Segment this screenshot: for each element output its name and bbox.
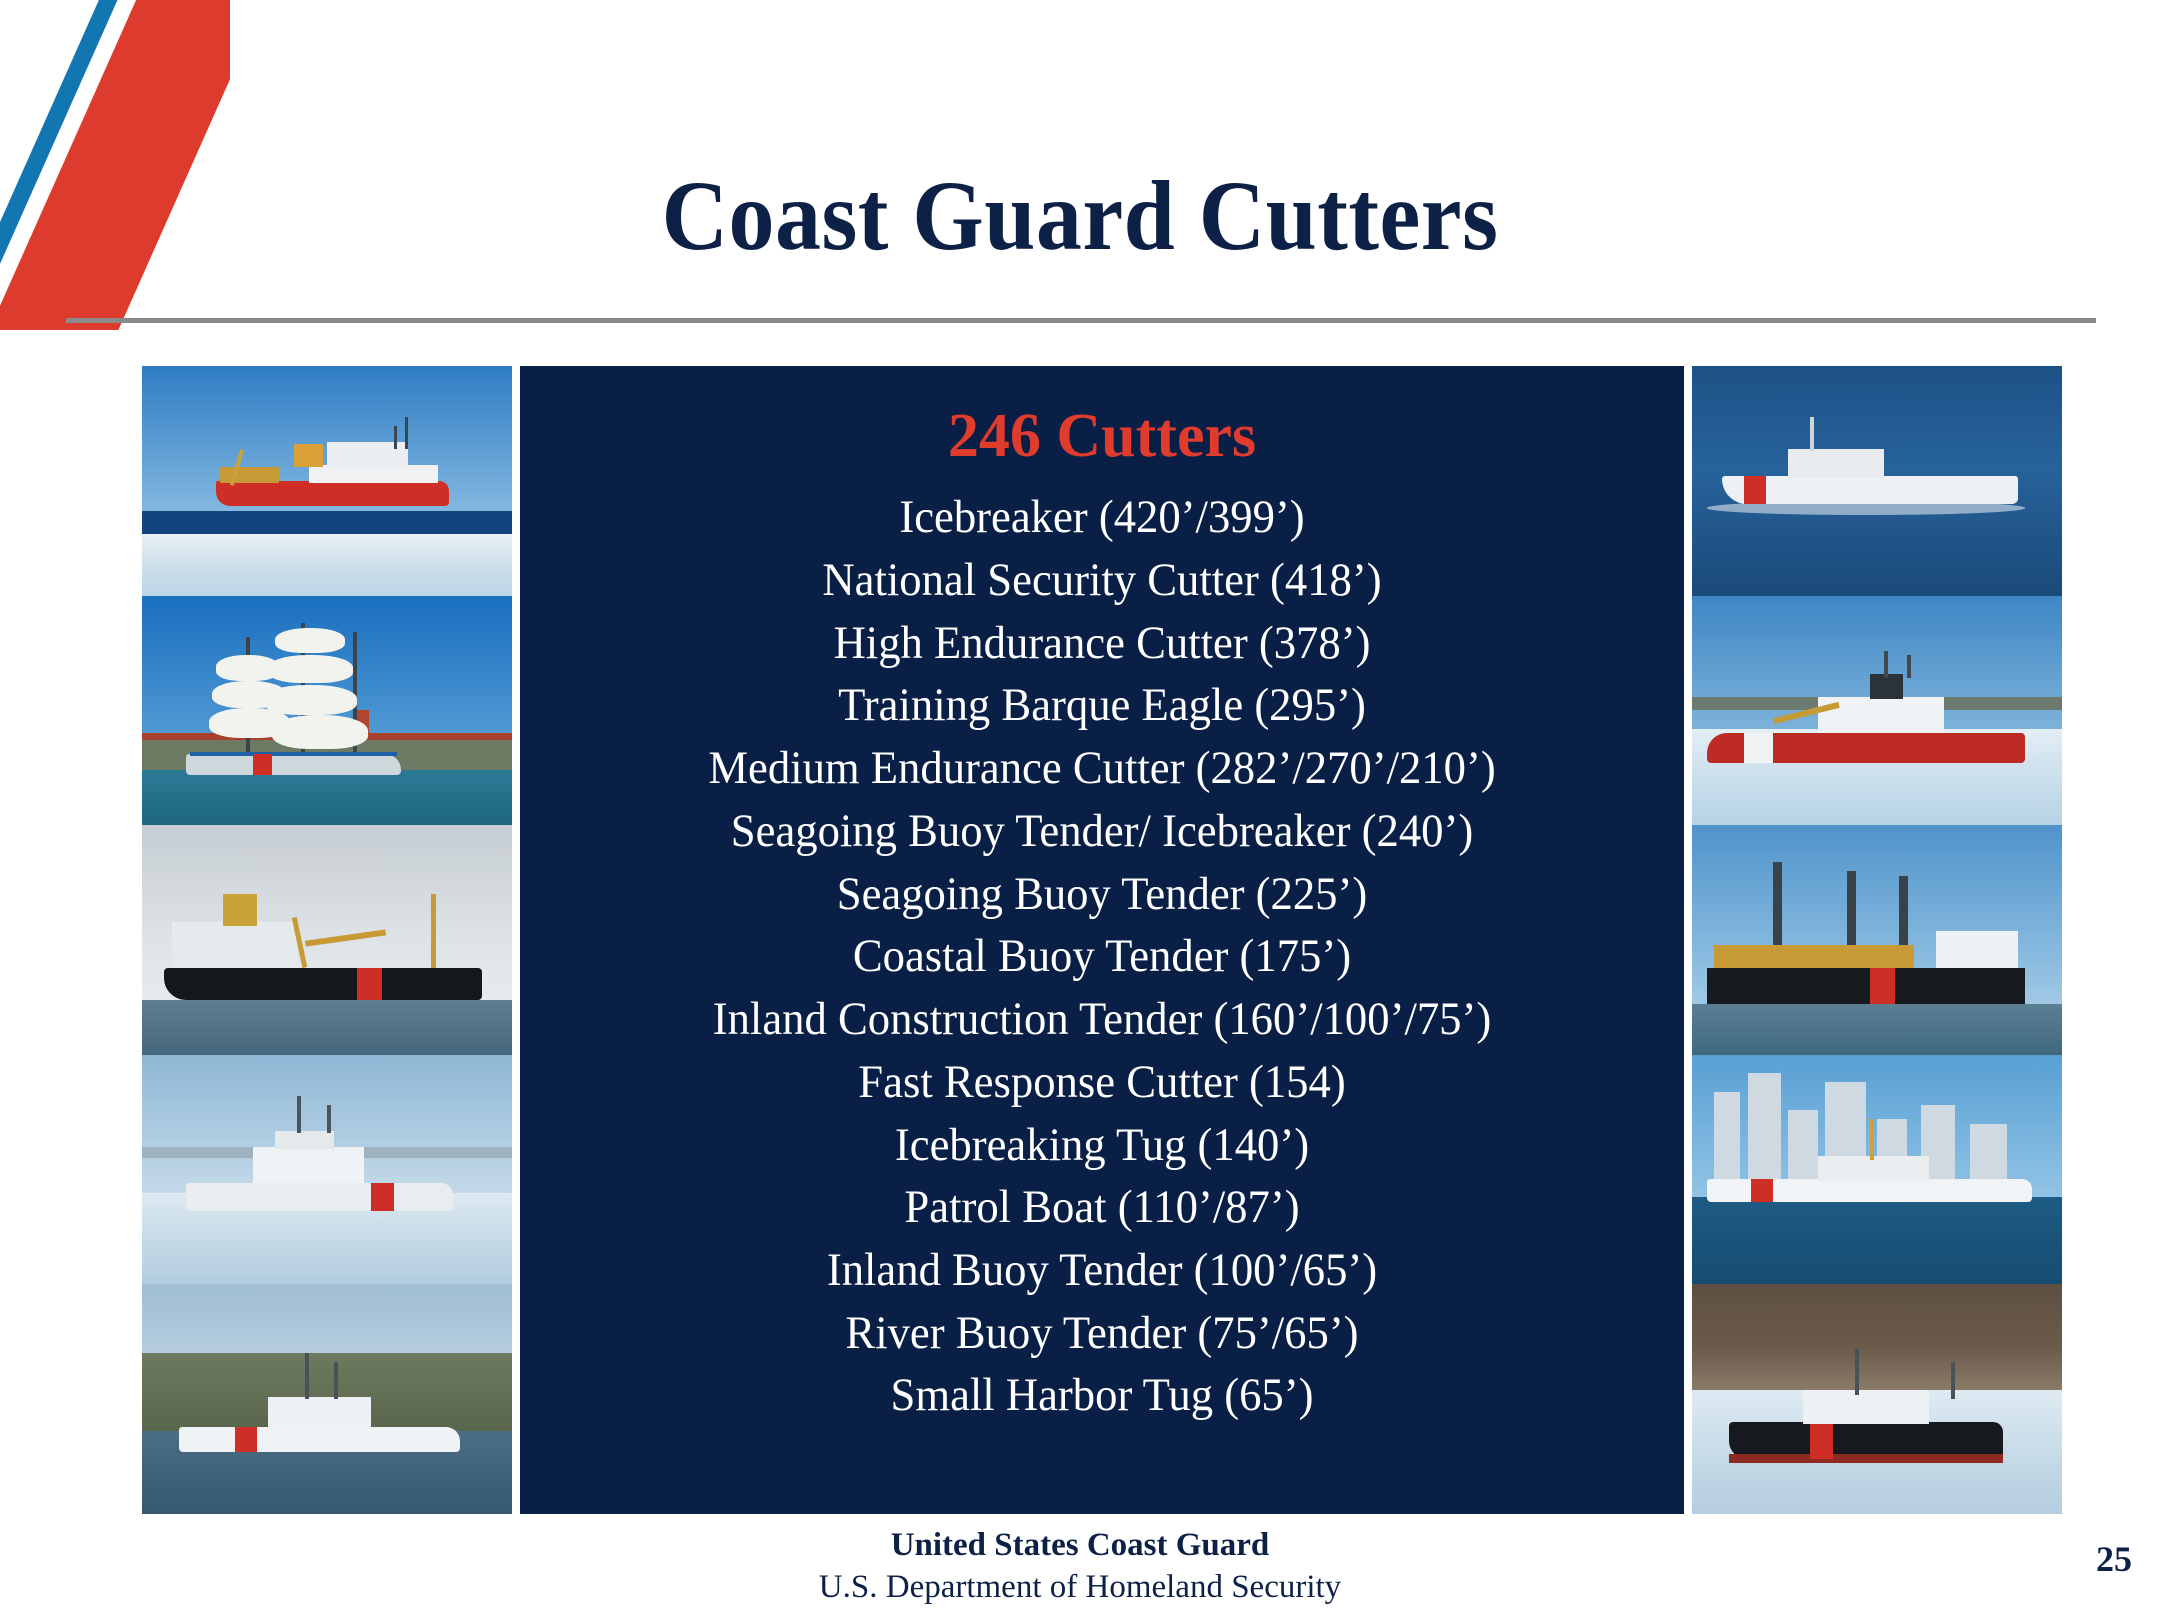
photo-fast-response-cutter: [1692, 1055, 2062, 1285]
slide-footer: United States Coast Guard U.S. Departmen…: [0, 1524, 2160, 1609]
hull-racing-stripe: [357, 968, 383, 1000]
hull-racing-stripe: [253, 754, 272, 775]
ship-hull: [179, 1427, 460, 1452]
photo-training-barque-eagle: [142, 596, 512, 826]
hull-racing-stripe: [235, 1427, 257, 1452]
ship-mast: [327, 1105, 331, 1133]
ship-mast: [1810, 417, 1814, 451]
sea: [1692, 1197, 2062, 1284]
ship-stack: [294, 444, 324, 467]
list-item: Icebreaking Tug (140’): [549, 1114, 1655, 1177]
deck-house: [1936, 931, 2017, 970]
ship-sail: [272, 715, 368, 749]
ship-superstructure: [172, 922, 298, 968]
ship-mast: [305, 1353, 309, 1399]
sea: [142, 1000, 512, 1055]
ship-mast: [1855, 1349, 1859, 1395]
cutter-list: Icebreaker (420’/399’) National Security…: [520, 486, 1684, 1427]
list-item: National Security Cutter (418’): [549, 549, 1655, 612]
ship-stack: [223, 894, 256, 926]
list-item: Training Barque Eagle (295’): [549, 674, 1655, 737]
barge-hull: [1707, 968, 2025, 1005]
hull-racing-stripe: [1751, 1179, 1773, 1202]
hull-racing-stripe: [1744, 733, 1774, 763]
list-item: High Endurance Cutter (378’): [549, 612, 1655, 675]
hull-racing-stripe: [1810, 1422, 1832, 1459]
photo-inland-construction-tender: [1692, 825, 2062, 1055]
crane-deck: [1714, 945, 1914, 970]
list-item: Icebreaker (420’/399’): [549, 486, 1655, 549]
ship-sail: [275, 628, 345, 653]
cutter-list-panel: 246 Cutters Icebreaker (420’/399’) Natio…: [520, 366, 1684, 1514]
ship-mast: [1951, 1362, 1955, 1399]
list-item: Coastal Buoy Tender (175’): [549, 925, 1655, 988]
ship-mast: [394, 426, 397, 449]
ship-sail: [264, 685, 357, 715]
hull-racing-stripe: [371, 1183, 393, 1211]
left-photo-column: [142, 366, 512, 1514]
ship-hull: [186, 1183, 452, 1211]
tree-line: [1692, 1284, 2062, 1390]
ship-hull-white: [309, 465, 439, 483]
ship-hull: [186, 754, 401, 775]
hull-racing-stripe: [1870, 968, 1896, 1005]
title-divider: [66, 318, 2096, 323]
deck-gear: [220, 467, 279, 483]
ship-hull: [164, 968, 482, 1000]
content-band: 246 Cutters Icebreaker (420’/399’) Natio…: [142, 366, 2062, 1514]
list-item: Inland Construction Tender (160’/100’/75…: [549, 988, 1655, 1051]
list-item: Patrol Boat (110’/87’): [549, 1176, 1655, 1239]
ice-field: [142, 534, 512, 596]
ship-hull: [1722, 476, 2018, 504]
footer-department: U.S. Department of Homeland Security: [0, 1566, 2160, 1609]
ship-bridge: [275, 1131, 334, 1149]
cutter-count-heading: 246 Cutters: [948, 402, 1256, 470]
list-item: Seagoing Buoy Tender/ Icebreaker (240’): [549, 800, 1655, 863]
photo-polar-icebreaker: [142, 366, 512, 596]
photo-icebreaker-mackinaw: [1692, 596, 2062, 826]
ship-hull: [216, 481, 449, 506]
list-item: Small Harbor Tug (65’): [549, 1364, 1655, 1427]
sea: [142, 511, 512, 534]
page-number: 25: [2096, 1538, 2132, 1580]
photo-patrol-boat: [142, 1284, 512, 1514]
hull-boot-topping: [1729, 1454, 2003, 1463]
ship-mast: [1907, 655, 1911, 678]
ship-mast: [1884, 651, 1888, 679]
photo-small-harbor-tug: [1692, 1284, 2062, 1514]
sea: [1692, 1004, 2062, 1055]
footer-organization: United States Coast Guard: [0, 1524, 2160, 1566]
ship-mast: [334, 1362, 338, 1399]
ship-superstructure: [1788, 449, 1884, 479]
ship-mast: [405, 417, 408, 449]
photo-national-security-cutter: [1692, 366, 2062, 596]
ship-mast: [297, 1096, 301, 1133]
page-title: Coast Guard Cutters: [86, 163, 2073, 268]
list-item: Inland Buoy Tender (100’/65’): [549, 1239, 1655, 1302]
list-item: Medium Endurance Cutter (282’/270’/210’): [549, 737, 1655, 800]
photo-seagoing-buoy-tender: [142, 825, 512, 1055]
ship-mast: [1870, 1119, 1874, 1160]
hull-racing-stripe: [1744, 476, 1766, 504]
ship-sail: [216, 655, 279, 680]
list-item: Seagoing Buoy Tender (225’): [549, 863, 1655, 926]
ship-sail: [268, 655, 353, 683]
hull-blue-stripe: [190, 752, 397, 756]
photo-icebreaking-tug: [142, 1055, 512, 1285]
list-item: River Buoy Tender (75’/65’): [549, 1302, 1655, 1365]
ship-superstructure: [1803, 1390, 1929, 1424]
list-item: Fast Response Cutter (154): [549, 1051, 1655, 1114]
ship-mast: [431, 894, 436, 967]
ship-superstructure: [268, 1397, 372, 1427]
right-photo-column: [1692, 366, 2062, 1514]
sea: [142, 770, 512, 825]
ship-superstructure: [253, 1147, 364, 1184]
